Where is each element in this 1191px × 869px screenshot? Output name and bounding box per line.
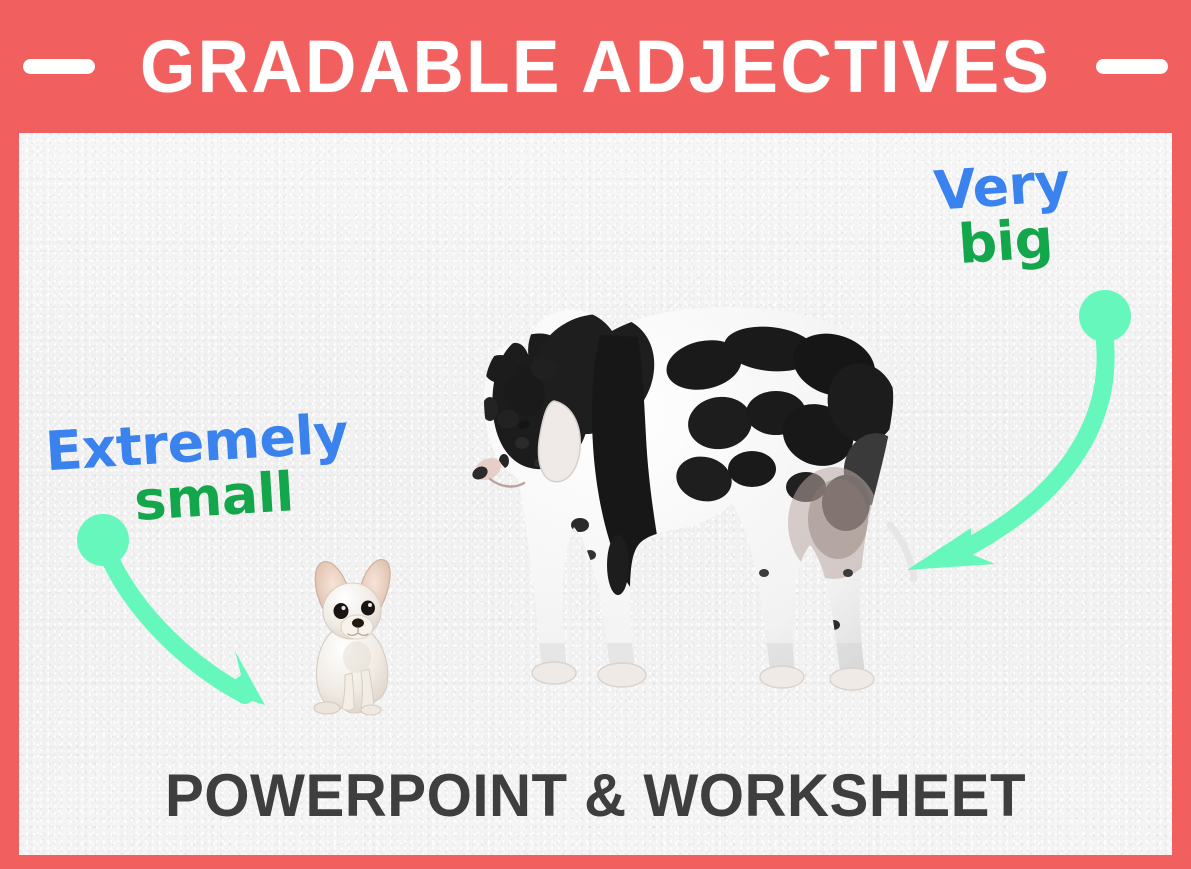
arrow-to-big-icon (879, 288, 1139, 588)
poster-root: GRADABLE ADJECTIVES (0, 0, 1191, 869)
great-dane-image (404, 273, 924, 733)
chihuahua-eye-right (361, 601, 375, 616)
callout-very-big: Very big (932, 156, 1074, 273)
arrow-to-small-icon (59, 513, 319, 713)
chihuahua-eye-left (334, 603, 349, 619)
chihuahua-nose (352, 618, 364, 627)
header-banner: GRADABLE ADJECTIVES (0, 0, 1191, 133)
title-dash-left-icon (23, 59, 95, 74)
callout-extremely-small: Extremely small (44, 408, 353, 534)
poster-canvas: Extremely small Very big POWERPOINT & WO… (19, 133, 1172, 855)
page-title: GRADABLE ADJECTIVES (140, 30, 1051, 104)
callout-word-big: big (936, 211, 1075, 273)
great-dane-paws (532, 662, 874, 690)
title-dash-right-icon (1096, 59, 1168, 74)
great-dane-coat (404, 273, 924, 733)
footer-caption: POWERPOINT & WORKSHEET (36, 761, 1154, 830)
